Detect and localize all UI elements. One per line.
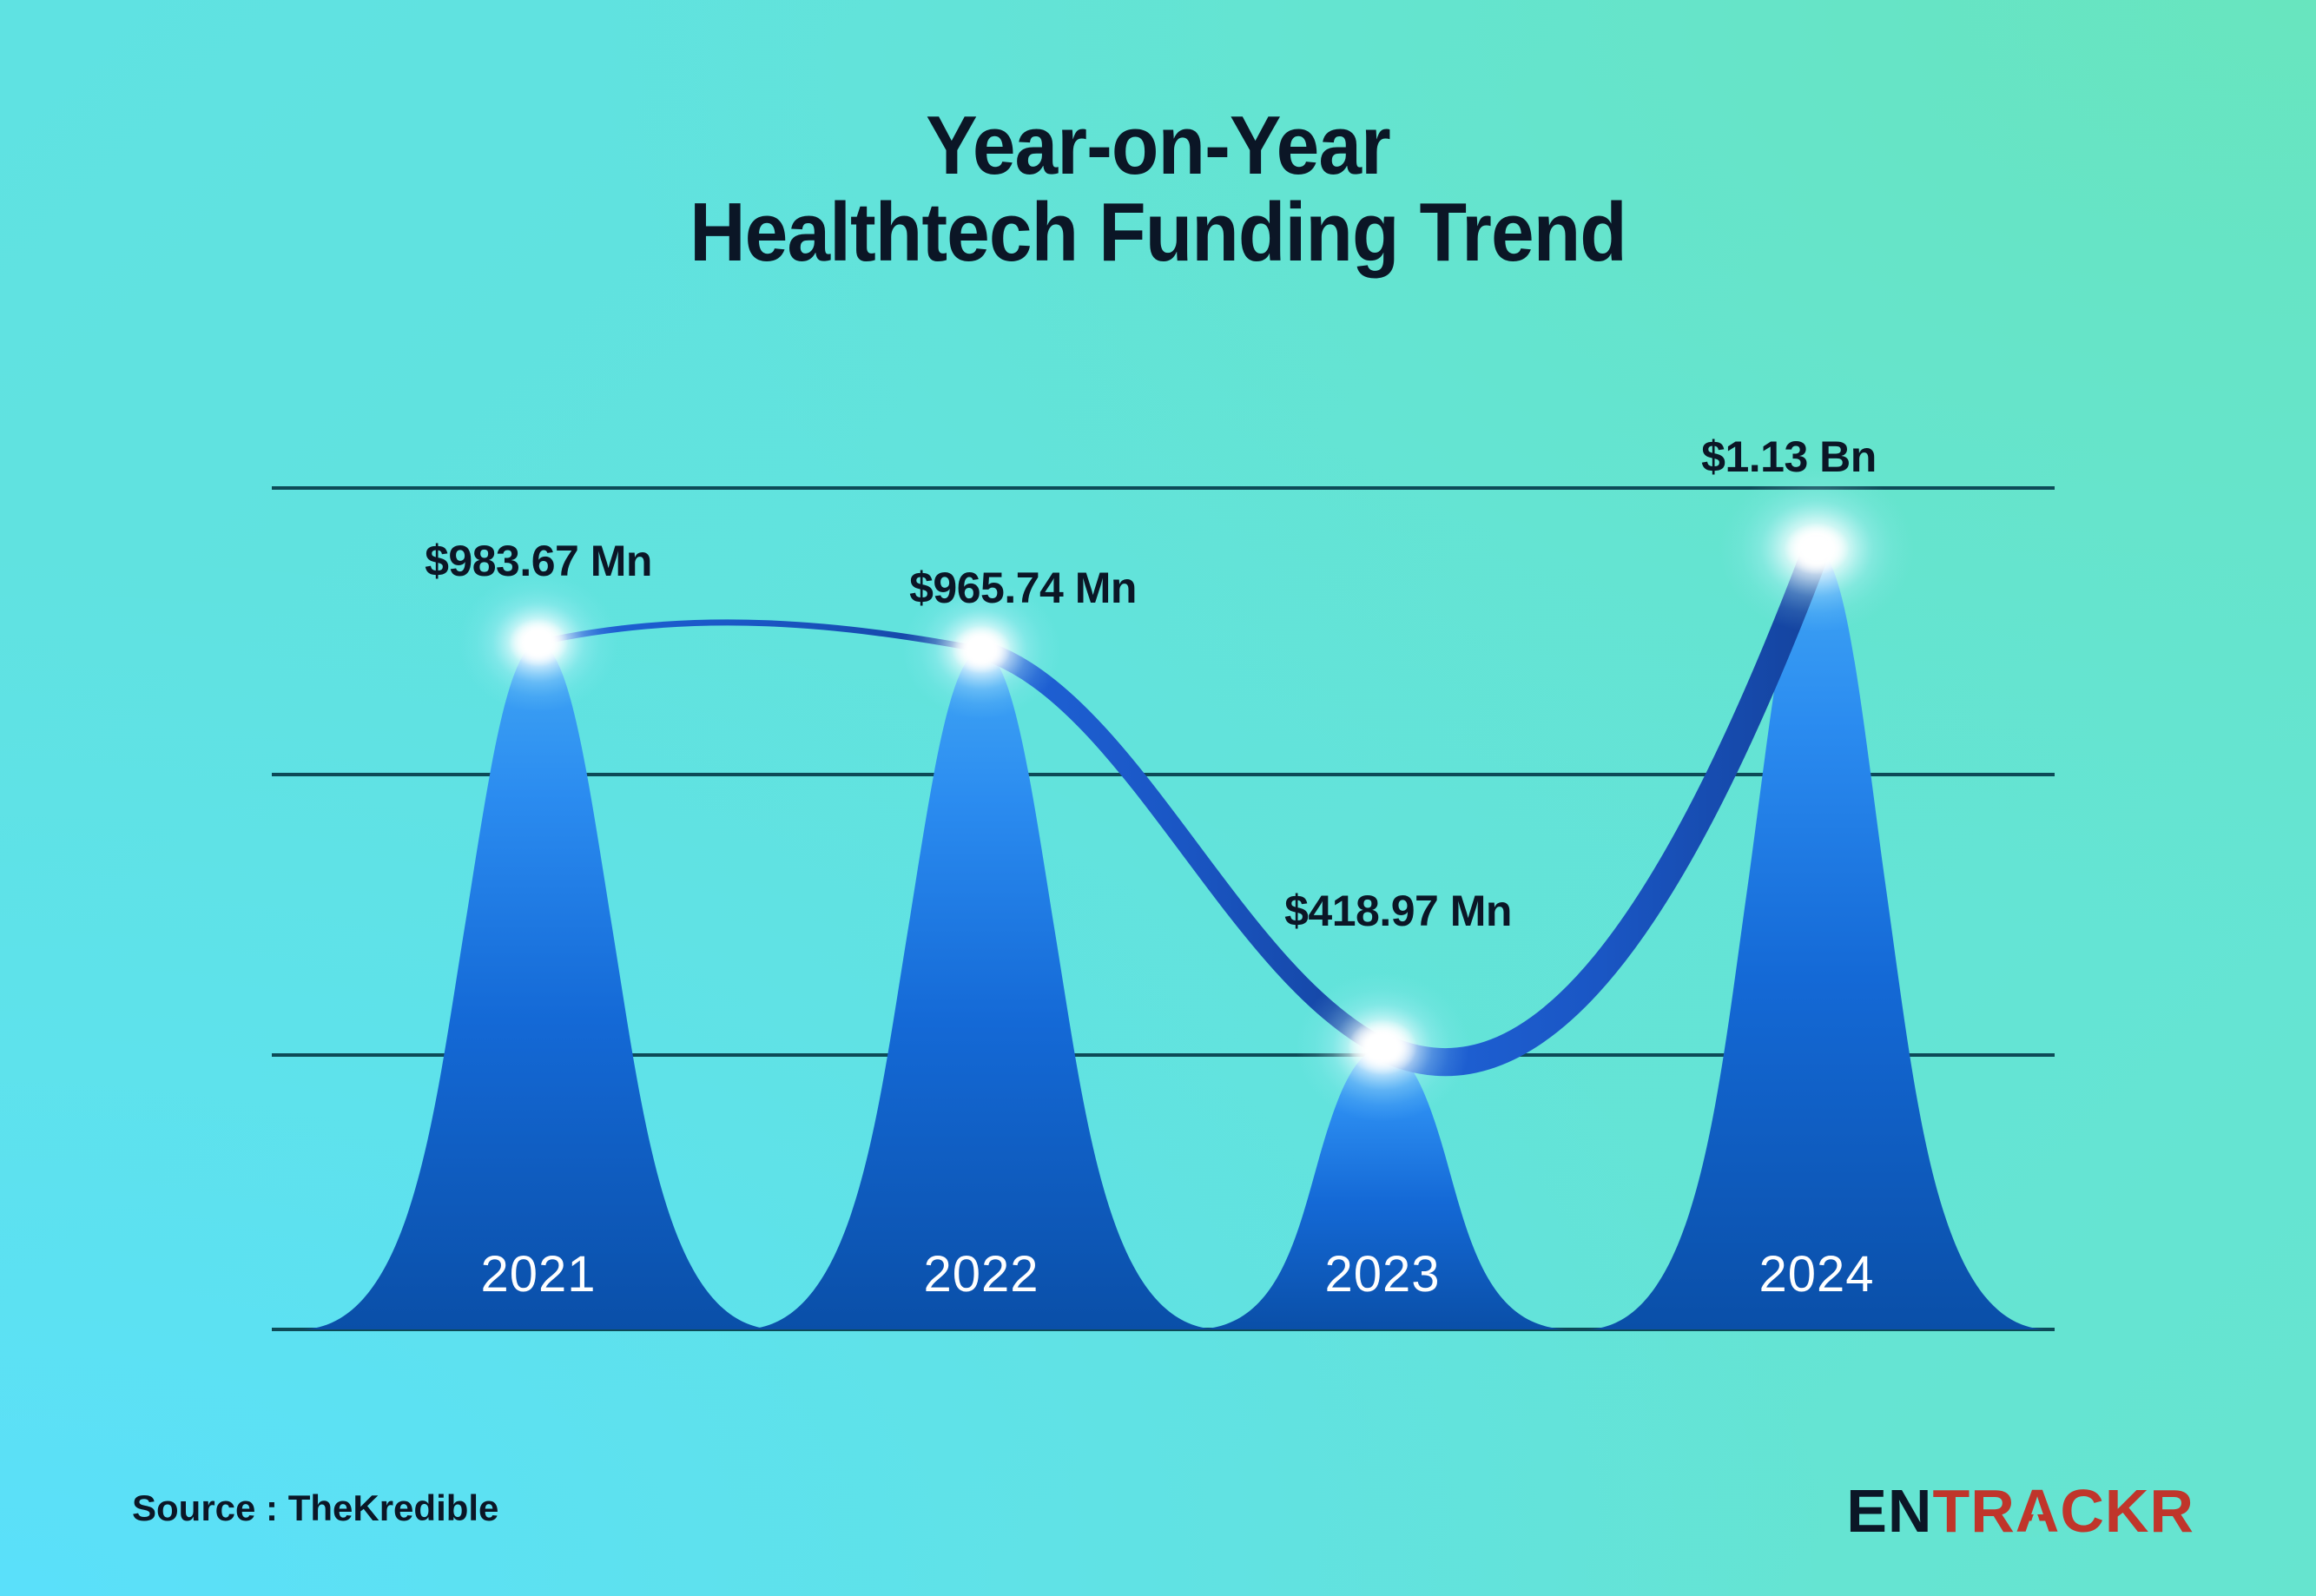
value-label-2022: $965.74 Mn: [909, 563, 1137, 613]
logo-trackr-label: TRACKR: [1932, 1477, 2194, 1545]
chart-area: [0, 0, 2316, 1596]
year-label-2024: 2024: [1758, 1245, 1874, 1303]
glow-2021-core: [509, 618, 568, 667]
glow-2023-core: [1348, 1019, 1417, 1075]
bell-2021: [300, 643, 777, 1329]
source-credit: Source : TheKredible: [132, 1487, 498, 1529]
logo-text-en: EN: [1846, 1476, 1932, 1546]
entrackr-logo: EN TRACKR: [1846, 1476, 2194, 1546]
year-label-2023: 2023: [1324, 1245, 1440, 1303]
infographic-canvas: Year-on-Year Healthtech Funding Trend: [0, 0, 2316, 1596]
funding-trend-chart: [0, 0, 2316, 1596]
value-label-2023: $418.97 Mn: [1284, 886, 1512, 936]
glow-2024-core: [1784, 523, 1850, 575]
bell-2022: [742, 650, 1220, 1329]
glow-2022-core: [952, 625, 1011, 674]
rocket-icon: [2022, 1509, 2049, 1544]
value-label-2024: $1.13 Bn: [1701, 432, 1877, 482]
value-label-2021: $983.67 Mn: [425, 536, 652, 586]
logo-text-trackr: TRACKR: [1932, 1476, 2194, 1546]
bell-2024: [1585, 549, 2049, 1329]
trend-line: [538, 549, 1817, 1062]
year-label-2022: 2022: [923, 1245, 1039, 1303]
year-label-2021: 2021: [480, 1245, 596, 1303]
